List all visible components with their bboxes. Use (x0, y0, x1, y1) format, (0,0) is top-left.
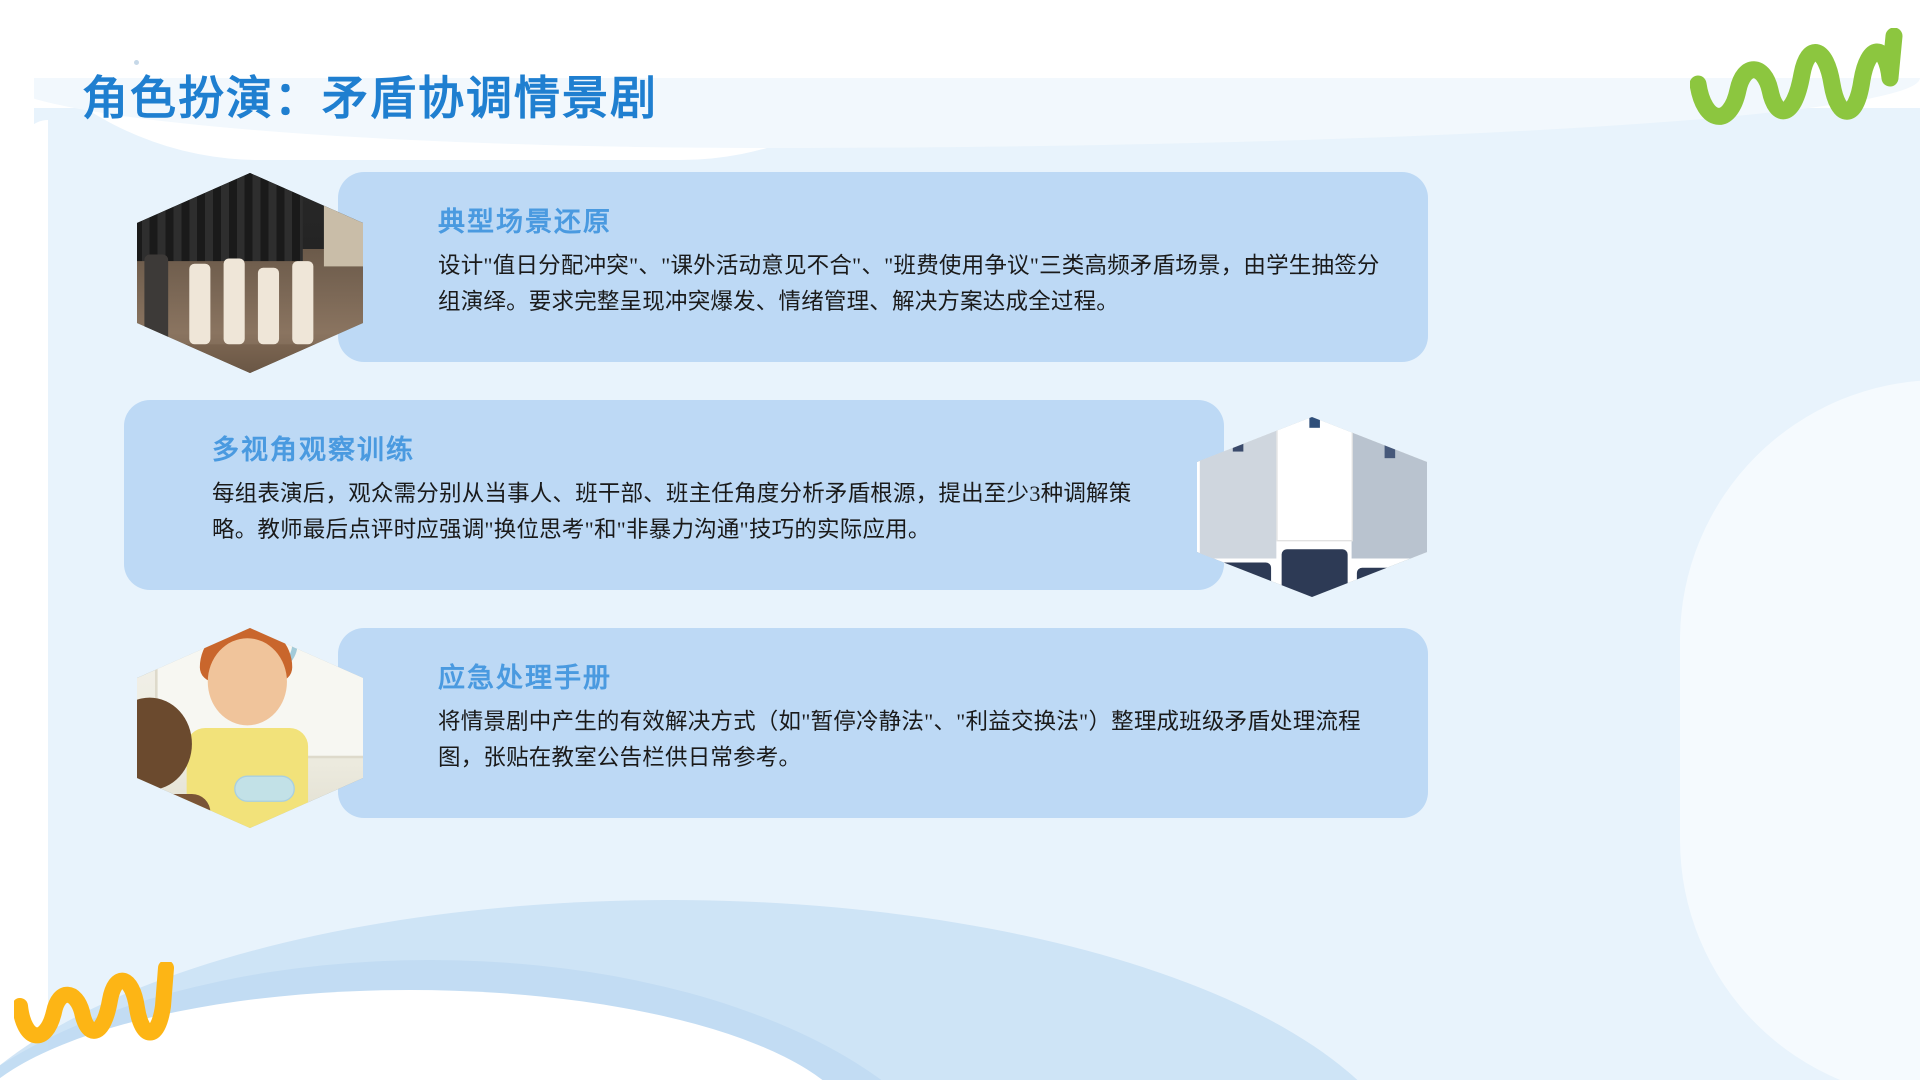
background-left-strip-inner (22, 120, 48, 1080)
card-1-body: 设计"值日分配冲突"、"课外活动意见不合"、"班费使用争议"三类高频矛盾场景，由… (438, 248, 1388, 321)
drama-rehearsal-photo (137, 173, 363, 373)
green-squiggle-icon (1690, 28, 1920, 148)
classroom-student-photo (137, 628, 363, 828)
three-people-discussion-photo (1197, 417, 1427, 597)
background-right-curve (1680, 380, 1920, 1080)
orange-squiggle-icon (14, 962, 194, 1058)
card-2-body: 每组表演后，观众需分别从当事人、班干部、班主任角度分析矛盾根源，提出至少3种调解… (212, 476, 1172, 549)
slide-root: 角色扮演：矛盾协调情景剧 典型场景还原 设计"值日分配冲突"、"课外活动意见不合… (0, 0, 1920, 1080)
page-title: 角色扮演：矛盾协调情景剧 (82, 70, 658, 128)
content-card-2: 多视角观察训练 每组表演后，观众需分别从当事人、班干部、班主任角度分析矛盾根源，… (124, 400, 1224, 590)
background-dot (134, 60, 139, 65)
card-3-body: 将情景剧中产生的有效解决方式（如"暂停冷静法"、"利益交换法"）整理成班级矛盾处… (438, 704, 1388, 777)
content-card-1: 典型场景还原 设计"值日分配冲突"、"课外活动意见不合"、"班费使用争议"三类高… (338, 172, 1428, 362)
card-1-heading: 典型场景还原 (438, 200, 612, 239)
card-3-heading: 应急处理手册 (438, 656, 612, 695)
content-card-3: 应急处理手册 将情景剧中产生的有效解决方式（如"暂停冷静法"、"利益交换法"）整… (338, 628, 1428, 818)
card-2-heading: 多视角观察训练 (212, 428, 415, 467)
